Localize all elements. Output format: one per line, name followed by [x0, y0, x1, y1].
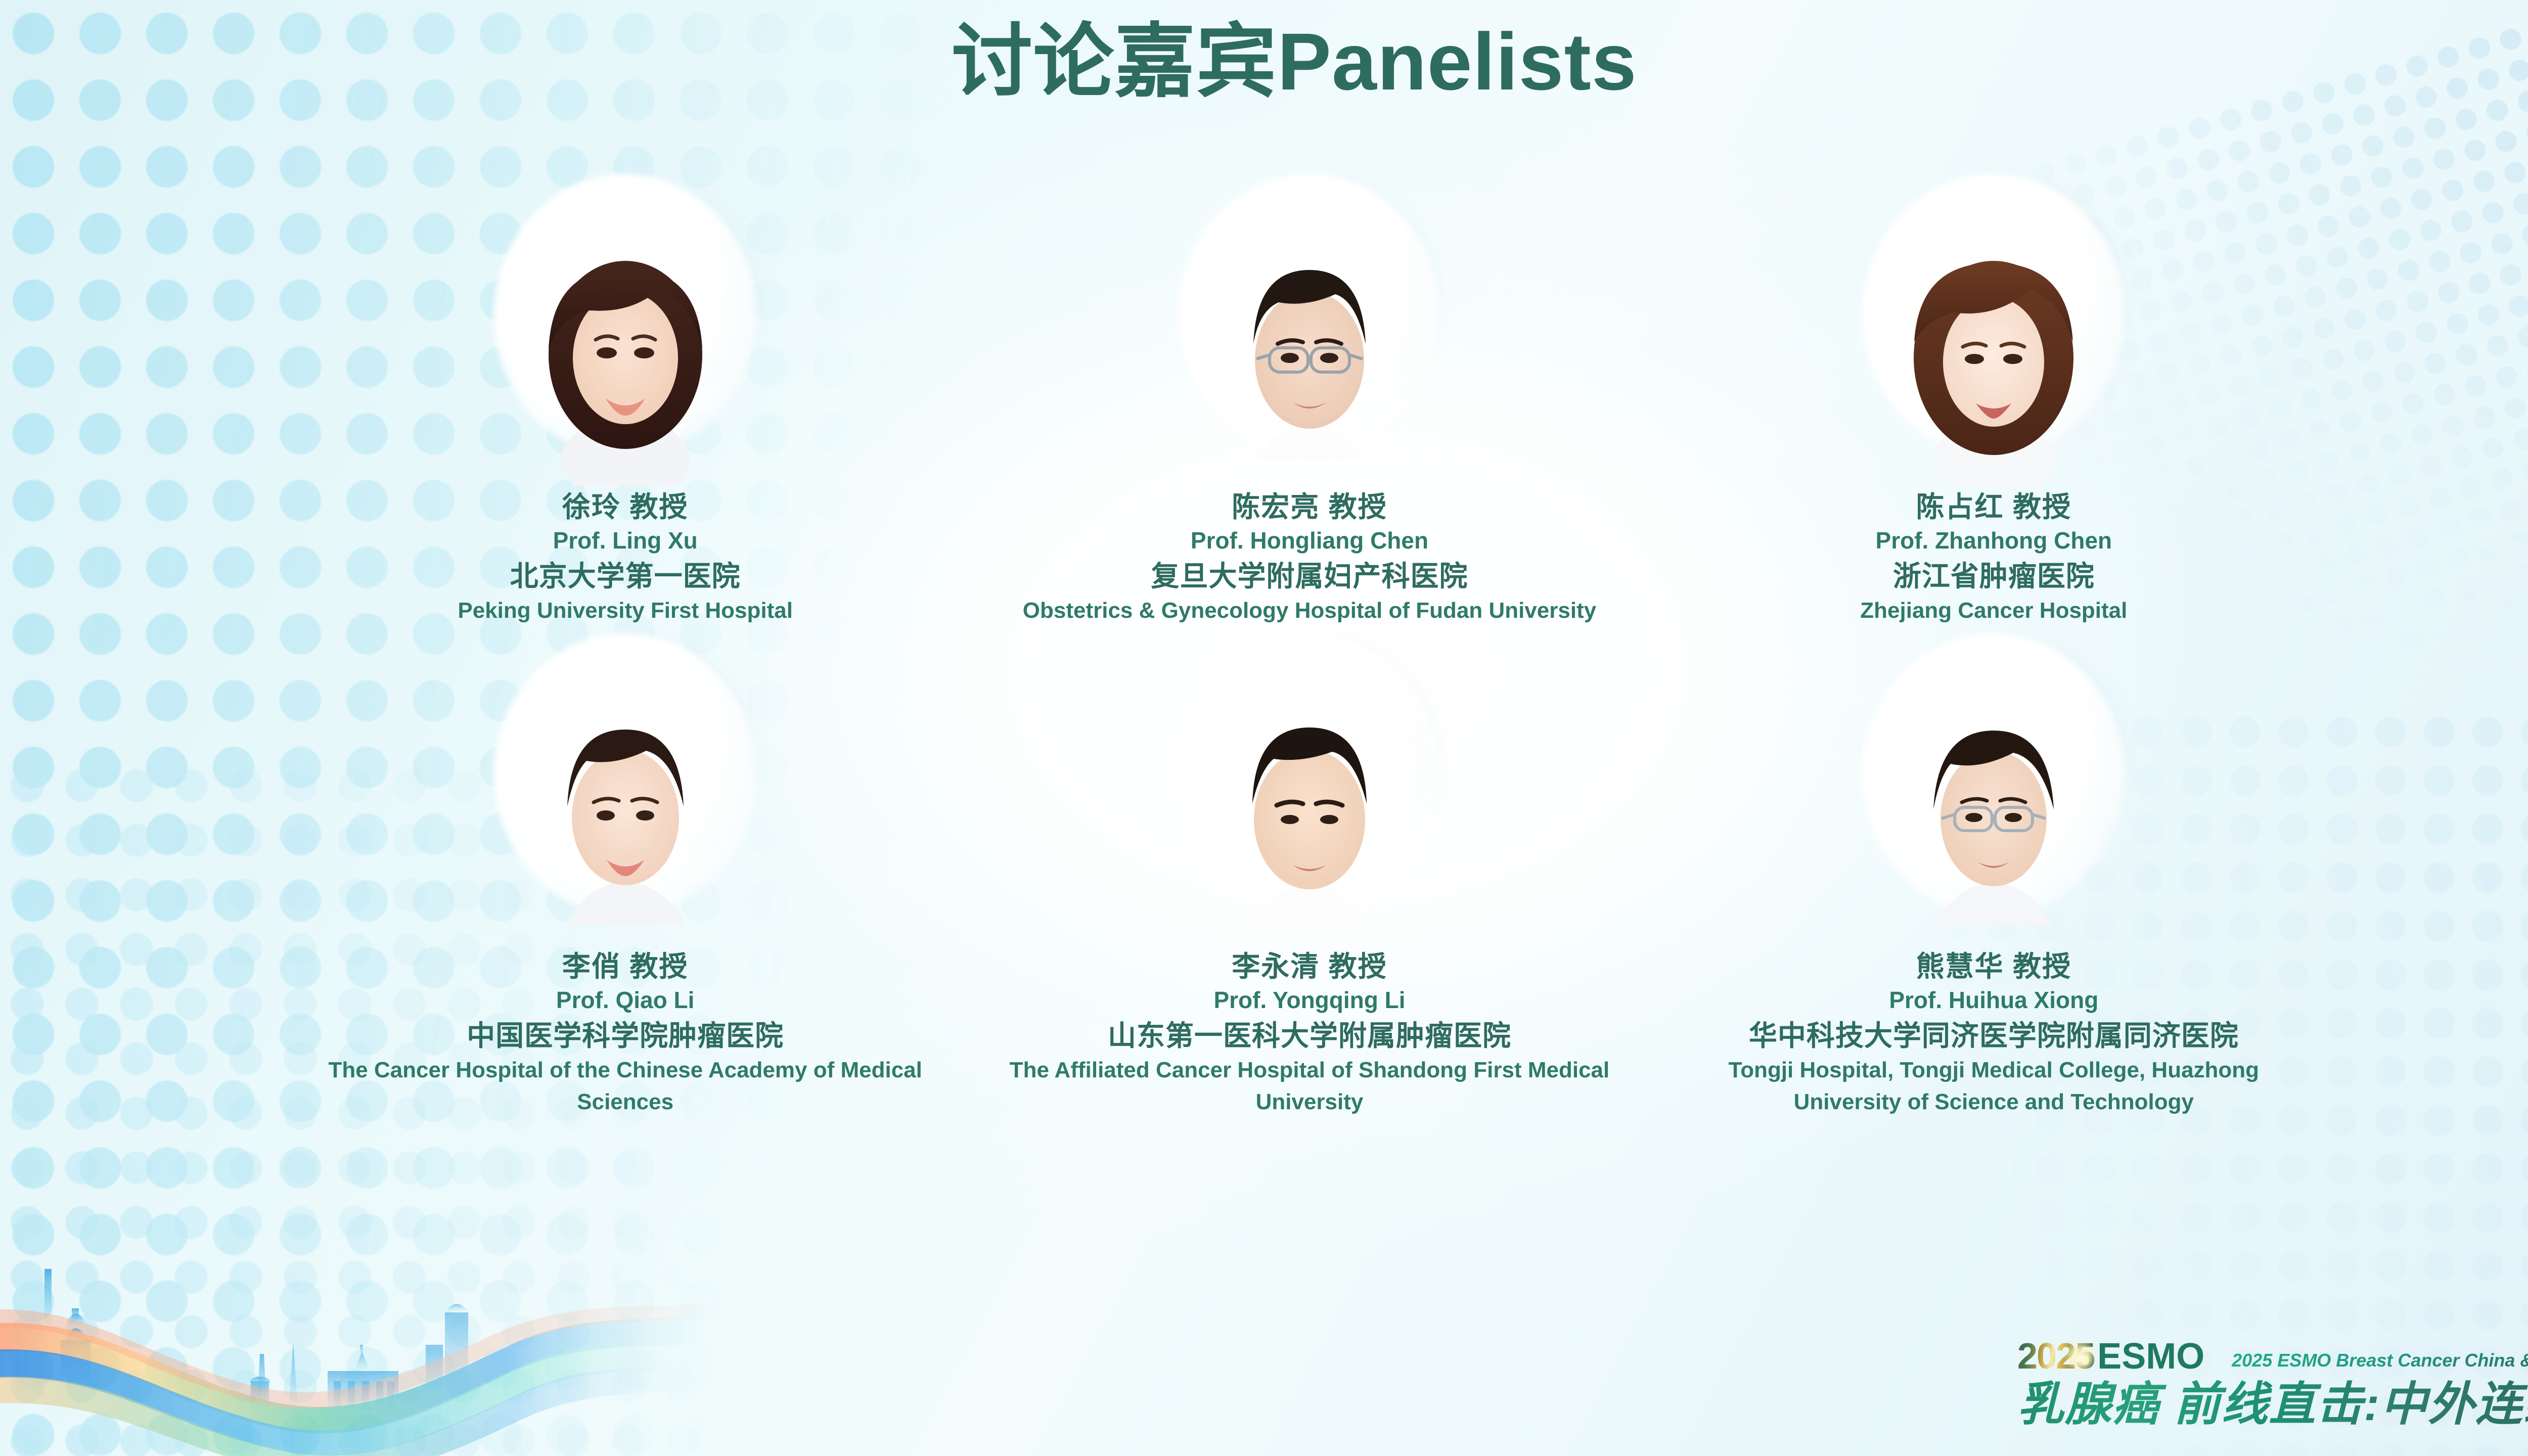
panelist-org-en: The Cancer Hospital of the Chinese Acade… [307, 1055, 944, 1118]
logo-year: 2025 [2017, 1338, 2094, 1375]
page-title: 讨论嘉宾Panelists [0, 15, 2528, 108]
panelist-name-cn: 熊慧华 教授 [1916, 949, 2072, 984]
panelist-name-cn: 李俏 教授 [562, 949, 689, 984]
portrait-hongliang-chen-icon [1201, 222, 1418, 485]
panelist-name-cn: 徐玲 教授 [562, 489, 689, 525]
panelist-org-en: Obstetrics & Gynecology Hospital of Fuda… [1023, 595, 1596, 626]
slide-canvas: 讨论嘉宾Panelists [0, 0, 2528, 1456]
panelist-card: 徐玲 教授 Prof. Ling Xu 北京大学第一医院 Peking Univ… [283, 182, 967, 626]
panelist-name-cn: 陈占红 教授 [1916, 489, 2072, 525]
panelist-photo [484, 182, 767, 485]
panelist-org-cn: 复旦大学附属妇产科医院 [1151, 558, 1468, 595]
panelist-photo [484, 642, 767, 945]
panelist-name-en: Prof. Huihua Xiong [1889, 984, 2098, 1016]
panelist-name-cn: 陈宏亮 教授 [1232, 489, 1387, 525]
event-logo: 2025 ESMO 2025 ESMO Breast Cancer China … [2017, 1338, 2528, 1430]
panelist-org-en: The Affiliated Cancer Hospital of Shando… [991, 1055, 1628, 1118]
portrait-huihua-xiong-icon [1885, 682, 2102, 945]
portrait-zhanhong-chen-icon [1885, 222, 2102, 485]
logo-brand: ESMO [2097, 1338, 2204, 1375]
panelist-photo [1168, 182, 1451, 485]
panelist-org-cn: 中国医学科学院肿瘤医院 [467, 1018, 784, 1055]
panelist-card: 陈宏亮 教授 Prof. Hongliang Chen 复旦大学附属妇产科医院 … [967, 182, 1651, 626]
panelist-name-en: Prof. Hongliang Chen [1191, 525, 1428, 556]
logo-tagline: 2025 ESMO Breast Cancer China & Global E… [2232, 1351, 2528, 1375]
panelist-org-en: Peking University First Hospital [458, 595, 793, 626]
panelist-org-en: Zhejiang Cancer Hospital [1860, 595, 2127, 626]
portrait-qiao-li-icon [517, 682, 734, 945]
panelist-name-en: Prof. Zhanhong Chen [1876, 525, 2112, 556]
city-skyline-ribbon-icon [0, 1264, 718, 1456]
panelist-name-en: Prof. Yongqing Li [1213, 984, 1405, 1016]
logo-top-row: 2025 ESMO 2025 ESMO Breast Cancer China … [2017, 1338, 2528, 1375]
panelist-card: 熊慧华 教授 Prof. Huihua Xiong 华中科技大学同济医学院附属同… [1652, 642, 2336, 1118]
panelist-name-cn: 李永清 教授 [1232, 949, 1387, 984]
portrait-yongqing-li-icon [1201, 682, 1418, 945]
panelist-card: 李永清 教授 Prof. Yongqing Li 山东第一医科大学附属肿瘤医院 … [967, 642, 1651, 1118]
panelist-card: 李俏 教授 Prof. Qiao Li 中国医学科学院肿瘤医院 The Canc… [283, 642, 967, 1118]
panelist-org-cn: 华中科技大学同济医学院附属同济医院 [1749, 1018, 2239, 1055]
panelist-org-cn: 浙江省肿瘤医院 [1893, 558, 2095, 595]
panelist-card: 陈占红 教授 Prof. Zhanhong Chen 浙江省肿瘤医院 Zheji… [1652, 182, 2336, 626]
panelist-org-en: Tongji Hospital, Tongji Medical College,… [1675, 1055, 2312, 1118]
panelist-photo [1852, 642, 2135, 945]
esmo-lockup: 2025 ESMO [2017, 1338, 2204, 1375]
logo-title-cn: 乳腺癌 前线直击:中外连线 [2017, 1380, 2528, 1430]
panelist-name-en: Prof. Qiao Li [556, 984, 694, 1016]
panelist-photo [1168, 642, 1451, 945]
portrait-ling-xu-icon [517, 222, 734, 485]
panelist-photo [1852, 182, 2135, 485]
panelist-org-cn: 山东第一医科大学附属肿瘤医院 [1108, 1018, 1511, 1055]
panelist-org-cn: 北京大学第一医院 [510, 558, 741, 595]
panelist-grid: 徐玲 教授 Prof. Ling Xu 北京大学第一医院 Peking Univ… [283, 182, 2336, 1118]
panelist-name-en: Prof. Ling Xu [553, 525, 698, 556]
